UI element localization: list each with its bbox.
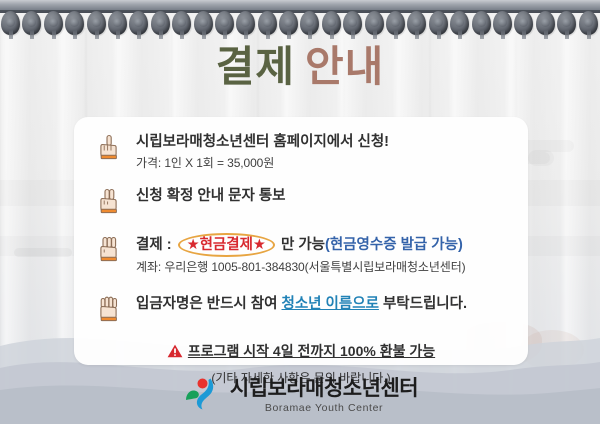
roof-tile-groove [587,30,591,39]
roof-tile-groove [415,30,419,39]
roof-tile [535,11,556,39]
footer-text-block: 시립보라매청소년센터 Boramae Youth Center [230,378,418,414]
info-item-body: 입금자명은 반드시 참여 청소년 이름으로 부탁드립니다. [136,295,528,313]
roof-tile [193,11,214,39]
roof-tile-groove [330,30,334,39]
roof-tile [278,11,299,39]
roof-tile [86,11,107,39]
roof-tile [342,11,363,39]
background-decoration [528,150,554,166]
poster-title: 결제안내 [0,46,600,88]
roof-tile-groove [202,30,206,39]
roof-tile [578,11,599,39]
footer-branding: 시립보라매청소년센터 Boramae Youth Center [0,376,600,415]
hand-three-fingers-icon [74,235,136,267]
roof-tile [64,11,85,39]
info-card: 시립보라매청소년센터 홈페이지에서 신청! 가격: 1인 X 1회 = 35,0… [74,117,528,365]
roof-tile [513,11,534,39]
info-item-main: 시립보라매청소년센터 홈페이지에서 신청! [136,133,528,151]
roof-tile [107,11,128,39]
roof-tile-groove [180,30,184,39]
roof-tile [43,11,64,39]
cash-receipt-note: (현금영수증 발급 가능) [325,237,463,253]
info-item: 신청 확정 안내 문자 통보 [74,187,528,219]
roof-tile [21,11,42,39]
bank-account-line: 계좌: 우리은행 1005-801-384830(서울특별시립보라매청소년센터) [136,258,528,275]
info-item-main: 신청 확정 안내 문자 통보 [136,187,528,205]
roof-tile-groove [73,30,77,39]
roof-tile [428,11,449,39]
background-decoration [14,248,72,257]
payment-middle: 만 가능 [277,237,325,253]
refund-warning-text: 프로그램 시작 4일 전까지 100% 환불 가능 [188,343,435,359]
cash-only-badge: ★현금결제★ [178,235,275,255]
roof-tile-groove [30,30,34,39]
refund-warning-row: 프로그램 시작 4일 전까지 100% 환불 가능 [74,341,528,361]
roof-tile [171,11,192,39]
payment-label: 결제 : [136,237,176,253]
title-word-payment: 결제 [216,43,295,90]
info-item-body: 신청 확정 안내 문자 통보 [136,187,528,205]
roof-tile-groove [9,30,13,39]
roof-tile-groove [137,30,141,39]
hand-one-finger-icon [74,133,136,165]
roof-tile-groove [223,30,227,39]
depositor-prefix: 입금자명은 반드시 참여 [136,296,282,312]
roof-tile [449,11,470,39]
roof-tile-groove [458,30,462,39]
roof-tile-groove [522,30,526,39]
hand-two-fingers-icon [74,187,136,219]
info-item: 입금자명은 반드시 참여 청소년 이름으로 부탁드립니다. [74,295,528,327]
roof-tile [0,11,21,39]
info-item: 시립보라매청소년센터 홈페이지에서 신청! 가격: 1인 X 1회 = 35,0… [74,133,528,171]
roof-tile-groove [116,30,120,39]
title-word-notice: 안내 [305,43,384,90]
roof-tile [214,11,235,39]
roof-tile [257,11,278,39]
roof-tile-groove [308,30,312,39]
roof-tile [235,11,256,39]
roof-tile-groove [437,30,441,39]
roof-tile-groove [501,30,505,39]
info-item-main: 입금자명은 반드시 참여 청소년 이름으로 부탁드립니다. [136,295,528,313]
roof-tile-groove [544,30,548,39]
roof-tile-groove [394,30,398,39]
hand-four-fingers-icon [74,295,136,327]
roof-tile [128,11,149,39]
roof-tile [471,11,492,39]
roof-tile [299,11,320,39]
roof-tile-groove [244,30,248,39]
roof-tile-groove [266,30,270,39]
roof-tile [406,11,427,39]
info-item-body: 시립보라매청소년센터 홈페이지에서 신청! 가격: 1인 X 1회 = 35,0… [136,133,528,171]
roof-tile-groove [480,30,484,39]
roof-tile-groove [287,30,291,39]
roof-tile [556,11,577,39]
boramae-figure-logo [182,376,222,415]
info-item-sub: 가격: 1인 X 1회 = 35,000원 [136,154,528,171]
footer-name-ko: 시립보라매청소년센터 [230,377,418,400]
info-item-body: 결제 : ★현금결제★ 만 가능(현금영수증 발급 가능) 계좌: 우리은행 1… [136,235,528,275]
roof-tile [364,11,385,39]
payment-info-poster: 결제안내 시립보라매청소년센터 홈페이지에서 신청! [0,0,600,424]
warning-triangle-icon [167,344,183,361]
info-item: 결제 : ★현금결제★ 만 가능(현금영수증 발급 가능) 계좌: 우리은행 1… [74,235,528,275]
footer-name-en: Boramae Youth Center [230,403,418,414]
roof-tile [321,11,342,39]
info-item-main: 결제 : ★현금결제★ 만 가능(현금영수증 발급 가능) [136,235,528,255]
depositor-highlight: 청소년 이름으로 [282,296,379,312]
roof-tile [492,11,513,39]
roof-tile-groove [52,30,56,39]
roof-tile-groove [95,30,99,39]
roof-tile-groove [159,30,163,39]
roof-tile [385,11,406,39]
roof-tile-row [0,11,600,39]
info-item-list: 시립보라매청소년센터 홈페이지에서 신청! 가격: 1인 X 1회 = 35,0… [74,117,528,386]
korean-roof-tiles [0,0,600,40]
roof-tile-groove [565,30,569,39]
roof-tile-groove [351,30,355,39]
roof-tile [150,11,171,39]
depositor-suffix: 부탁드립니다. [379,296,467,312]
roof-tile-groove [373,30,377,39]
